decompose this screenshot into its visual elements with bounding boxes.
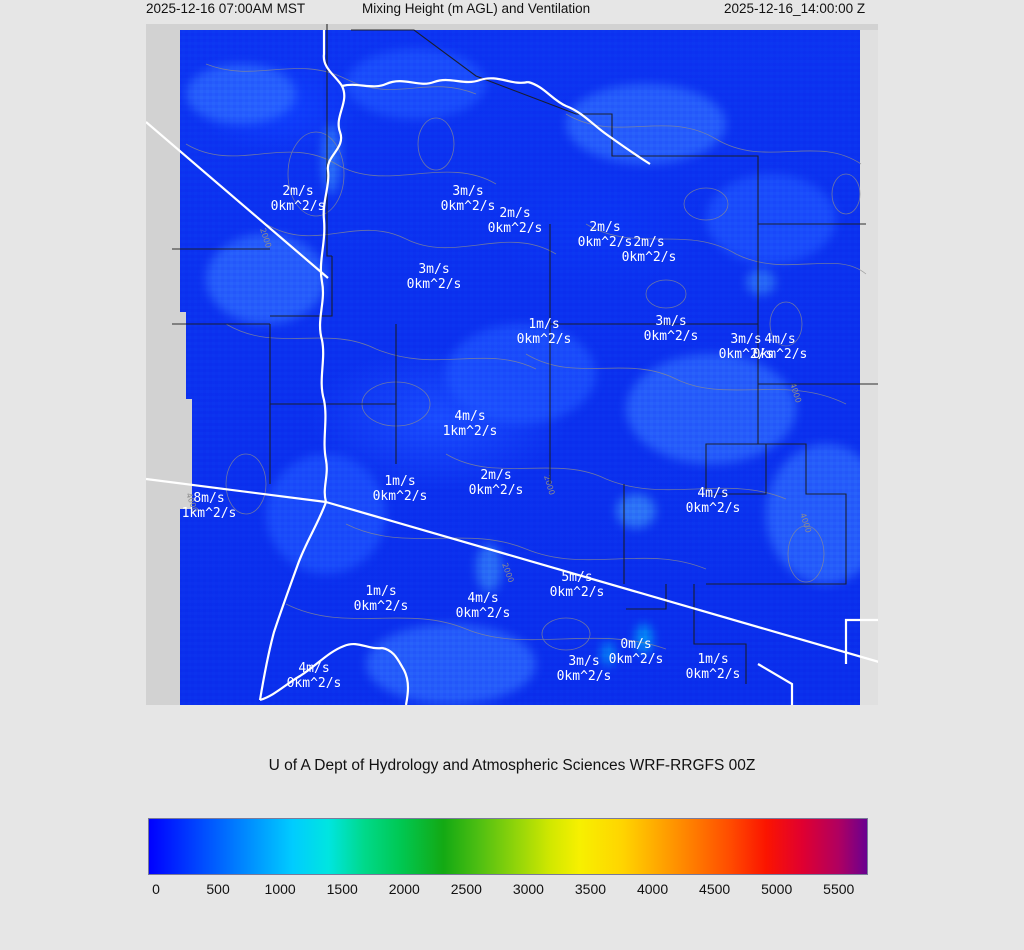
state-boundaries bbox=[146, 30, 878, 705]
colorbar-gradient bbox=[148, 818, 868, 875]
contour-value-labels: 2000 4000 2000 2000 4000 4000 bbox=[184, 227, 813, 584]
colorbar-tick: 1500 bbox=[327, 881, 358, 897]
svg-text:4000: 4000 bbox=[798, 512, 813, 534]
svg-text:4000: 4000 bbox=[184, 492, 199, 514]
colorbar-tick: 5000 bbox=[761, 881, 792, 897]
svg-text:2000: 2000 bbox=[500, 562, 515, 584]
page-title: Mixing Height (m AGL) and Ventilation bbox=[362, 1, 590, 16]
colorbar-tick: 2500 bbox=[451, 881, 482, 897]
colorbar-tick: 2000 bbox=[389, 881, 420, 897]
svg-text:2000: 2000 bbox=[542, 474, 556, 496]
terrain-contours bbox=[186, 64, 866, 650]
colorbar-container: 0500100015002000250030003500400045005000… bbox=[148, 818, 868, 909]
map-vector-overlay: 2000 4000 2000 2000 4000 4000 bbox=[146, 24, 878, 705]
colorbar-tick: 5500 bbox=[823, 881, 854, 897]
svg-text:4000: 4000 bbox=[788, 382, 803, 404]
colorbar-tick: 4000 bbox=[637, 881, 668, 897]
county-boundaries bbox=[172, 24, 878, 684]
valid-time-local: 2025-12-16 07:00AM MST bbox=[146, 1, 305, 16]
plot-header: 2025-12-16 07:00AM MST Mixing Height (m … bbox=[0, 0, 1024, 20]
colorbar-tick: 500 bbox=[206, 881, 229, 897]
credit-line: U of A Dept of Hydrology and Atmospheric… bbox=[0, 757, 1024, 775]
colorbar-tick: 4500 bbox=[699, 881, 730, 897]
colorbar-tick: 0 bbox=[152, 881, 160, 897]
colorbar-tick: 3000 bbox=[513, 881, 544, 897]
valid-time-utc: 2025-12-16_14:00:00 Z bbox=[724, 1, 865, 16]
colorbar-tick: 3500 bbox=[575, 881, 606, 897]
map-panel[interactable]: 2000 4000 2000 2000 4000 4000 bbox=[146, 24, 878, 705]
colorbar-tick-labels: 0500100015002000250030003500400045005000… bbox=[148, 881, 868, 909]
colorbar-tick: 1000 bbox=[265, 881, 296, 897]
